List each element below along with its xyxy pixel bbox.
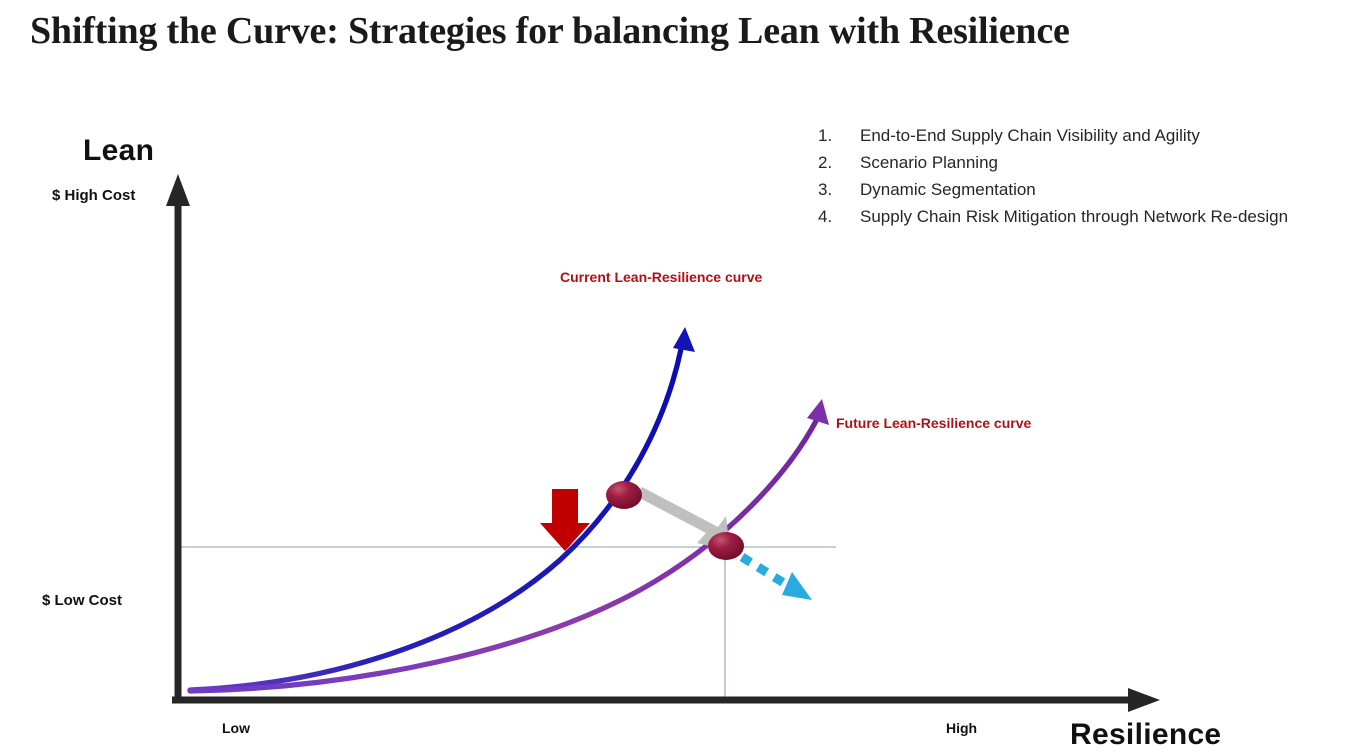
list-item: 3. Dynamic Segmentation [818,180,1358,200]
y-axis [166,174,190,700]
list-item-label: Scenario Planning [860,153,998,173]
list-item: 4. Supply Chain Risk Mitigation through … [818,207,1358,227]
current-operating-point-marker [606,481,642,509]
x-axis-low-tick: Low [222,720,250,736]
future-operating-point-marker [708,532,744,560]
x-axis-title: Resilience [1070,718,1221,752]
list-item: 1. End-to-End Supply Chain Visibility an… [818,126,1358,146]
y-axis-title: Lean [83,134,154,168]
cost-reduction-down-arrow [540,489,590,551]
list-item-label: End-to-End Supply Chain Visibility and A… [860,126,1200,146]
chart-graphic [0,0,1359,756]
current-curve-callout: Current Lean-Resilience curve [560,269,762,285]
resilience-gain-dashed-arrow [742,557,812,600]
x-axis [172,688,1160,712]
y-axis-top-label: $ High Cost [52,187,135,204]
y-axis-bottom-label: $ Low Cost [42,592,122,609]
list-item-number: 2. [818,153,860,173]
future-curve-callout: Future Lean-Resilience curve [836,415,1031,431]
list-item-number: 4. [818,207,860,227]
list-item: 2. Scenario Planning [818,153,1358,173]
list-item-label: Supply Chain Risk Mitigation through Net… [860,207,1288,227]
strategies-list: 1. End-to-End Supply Chain Visibility an… [818,126,1358,234]
list-item-number: 3. [818,180,860,200]
slide-canvas: Shifting the Curve: Strategies for balan… [0,0,1359,756]
list-item-label: Dynamic Segmentation [860,180,1036,200]
list-item-number: 1. [818,126,860,146]
x-axis-high-tick: High [946,720,977,736]
